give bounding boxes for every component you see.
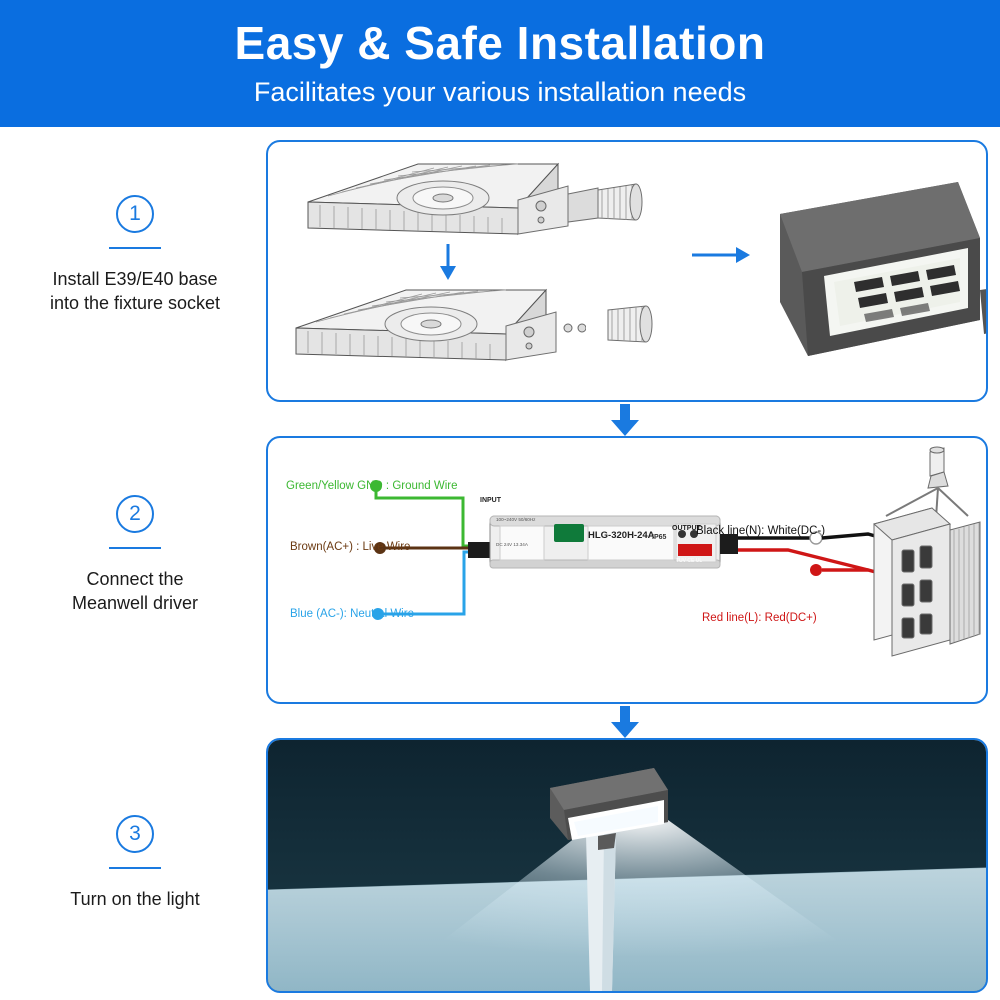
step-1-illustration bbox=[268, 142, 988, 402]
step-3-number: 3 bbox=[116, 815, 154, 853]
arrow-step2-to-step3 bbox=[608, 706, 642, 740]
step-1-block: 1 Install E39/E40 base into the fixture … bbox=[10, 195, 260, 316]
step-2-label: Connect the Meanwell driver bbox=[10, 567, 260, 616]
step-2-divider bbox=[109, 547, 161, 549]
step-1-divider bbox=[109, 247, 161, 249]
step-3-illustration bbox=[268, 740, 986, 991]
step-1-number: 1 bbox=[116, 195, 154, 233]
step-2-block: 2 Connect the Meanwell driver bbox=[10, 495, 260, 616]
driver-spec-line-1: 100~240V 50/60Hz bbox=[496, 517, 535, 522]
step-3-divider bbox=[109, 867, 161, 869]
step-2-number: 2 bbox=[116, 495, 154, 533]
step-3-block: 3 Turn on the light bbox=[10, 815, 260, 911]
step-2-panel: INPUT OUTPUT MW HLG-320H-24A 100~240V 50… bbox=[266, 436, 988, 704]
black-line-label: Black line(N): White(DC-) bbox=[696, 525, 825, 537]
driver-ip-rating: IP65 bbox=[652, 534, 666, 541]
live-wire-label: Brown(AC+) : Live Wire bbox=[290, 541, 410, 553]
step-3-label: Turn on the light bbox=[10, 887, 260, 911]
page-header: Easy & Safe Installation Facilitates you… bbox=[0, 0, 1000, 127]
driver-brand-logo: MW bbox=[557, 506, 575, 517]
page-title: Easy & Safe Installation bbox=[235, 19, 766, 67]
driver-cert-marks: TUV CE UL bbox=[676, 558, 702, 564]
step-2-illustration bbox=[268, 438, 988, 704]
driver-input-label: INPUT bbox=[480, 497, 501, 504]
driver-spec-line-2: DC 24V 13.34A bbox=[496, 542, 528, 547]
driver-model-label: HLG-320H-24A bbox=[588, 530, 655, 541]
step-1-panel bbox=[266, 140, 988, 402]
step-3-panel bbox=[266, 738, 988, 993]
ground-wire-label: Green/Yellow GND : Ground Wire bbox=[286, 480, 458, 492]
step-1-inner-down-arrow bbox=[440, 244, 456, 280]
page-subtitle: Facilitates your various installation ne… bbox=[254, 77, 746, 108]
arrow-step1-to-step2 bbox=[608, 404, 642, 438]
red-line-label: Red line(L): Red(DC+) bbox=[702, 612, 817, 624]
step-1-label: Install E39/E40 base into the fixture so… bbox=[10, 267, 260, 316]
step-1-right-arrow bbox=[692, 247, 750, 263]
neutral-wire-label: Blue (AC-): Neutral Wire bbox=[290, 608, 414, 620]
